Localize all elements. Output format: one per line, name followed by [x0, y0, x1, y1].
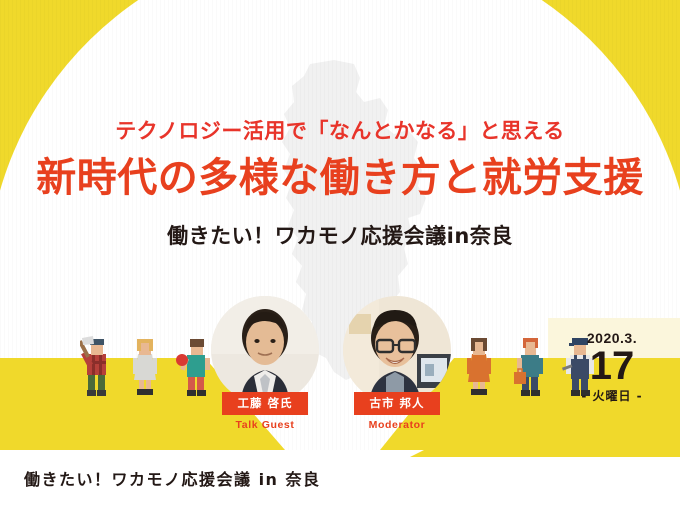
speaker-role-label: Talk Guest	[206, 419, 324, 431]
speaker-list: 工藤 啓氏 Talk Guest	[206, 296, 456, 431]
footer-yellow-accent	[410, 450, 680, 457]
portrait-man-glasses-icon	[343, 296, 451, 404]
speaker-card: 古市 邦人 Moderator	[338, 296, 456, 431]
speaker-name-plate: 古市 邦人	[354, 392, 440, 415]
speaker-role-label: Moderator	[338, 419, 456, 431]
figure-person-with-bag-icon	[510, 336, 546, 398]
figure-lumberjack-icon	[80, 336, 114, 398]
footer-bar: 働きたい！ワカモノ応援会議 in 奈良	[0, 450, 680, 506]
headline-line-2-title: 新時代の多様な働き方と就労支援	[0, 156, 680, 200]
speaker-portrait-photo	[211, 296, 319, 404]
date-weekday: - 火曜日 -	[560, 387, 664, 404]
poster-canvas: テクノロジー活用で「なんとかなる」と思える 新時代の多様な働き方と就労支援 働き…	[0, 0, 680, 450]
headline-line-1: テクノロジー活用で「なんとかなる」と思える	[0, 118, 680, 144]
footer-title: 働きたい！ワカモノ応援会議 in 奈良	[24, 466, 321, 490]
date-day-number: 17	[560, 347, 664, 385]
speaker-name-plate: 工藤 啓氏	[222, 392, 308, 415]
figure-group-left	[80, 336, 214, 398]
headline-block: テクノロジー活用で「なんとかなる」と思える 新時代の多様な働き方と就労支援 働き…	[0, 118, 680, 250]
speaker-portrait-photo	[343, 296, 451, 404]
event-date-block: 2020.3. 17 - 火曜日 -	[560, 330, 664, 404]
figure-woman-grey-dress-icon	[128, 336, 162, 398]
figure-woman-orange-dress-icon	[462, 336, 496, 398]
portrait-man-suit-icon	[211, 296, 319, 404]
speaker-card: 工藤 啓氏 Talk Guest	[206, 296, 324, 431]
headline-line-3-subtitle: 働きたい！ワカモノ応援会議in奈良	[0, 220, 680, 250]
